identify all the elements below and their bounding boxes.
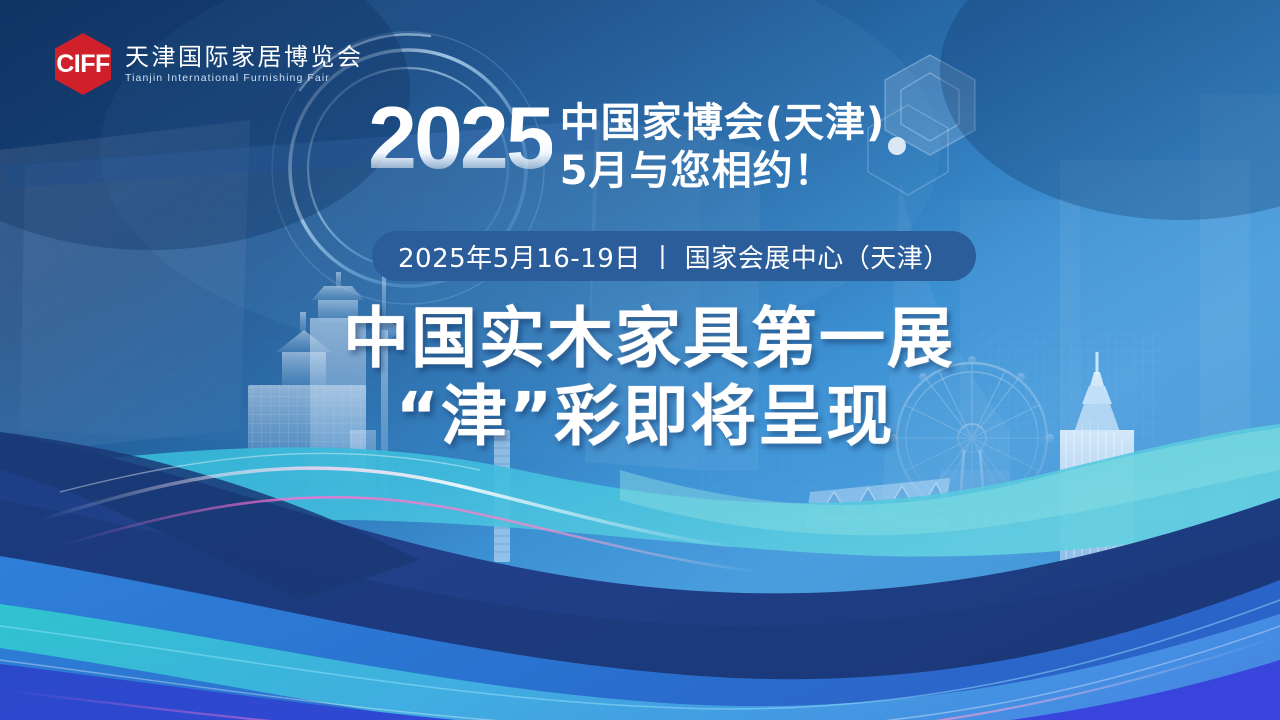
hero-title-lines: 中国家博会(天津) 5月与您相约！ [560,102,886,193]
date-venue-pill: 2025年5月16-19日 丨 国家会展中心（天津） [372,231,976,281]
ciff-logo[interactable]: CIFF 天津国际家居博览会 Tianjin International Fur… [55,33,364,95]
ciff-wordmark: CIFF [56,50,110,79]
date-venue-text: 2025年5月16-19日 丨 国家会展中心（天津） [398,238,950,275]
ciff-hexagon-mark: CIFF [55,33,111,95]
logo-name-cn: 天津国际家居博览会 [125,44,364,70]
logo-name-en: Tianjin International Furnishing Fair [125,72,364,84]
hero-title-row: 2025 中国家博会(天津) 5月与您相约！ [368,98,885,193]
hero-title-line2: 5月与您相约！ [560,150,886,192]
hero-title-line1: 中国家博会(天津) [560,102,886,144]
promo-banner: CIFF 天津国际家居博览会 Tianjin International Fur… [0,0,1280,720]
hero-year: 2025 [368,98,552,179]
wave-ribbons [0,424,1280,720]
logo-text-block: 天津国际家居博览会 Tianjin International Furnishi… [125,44,364,84]
